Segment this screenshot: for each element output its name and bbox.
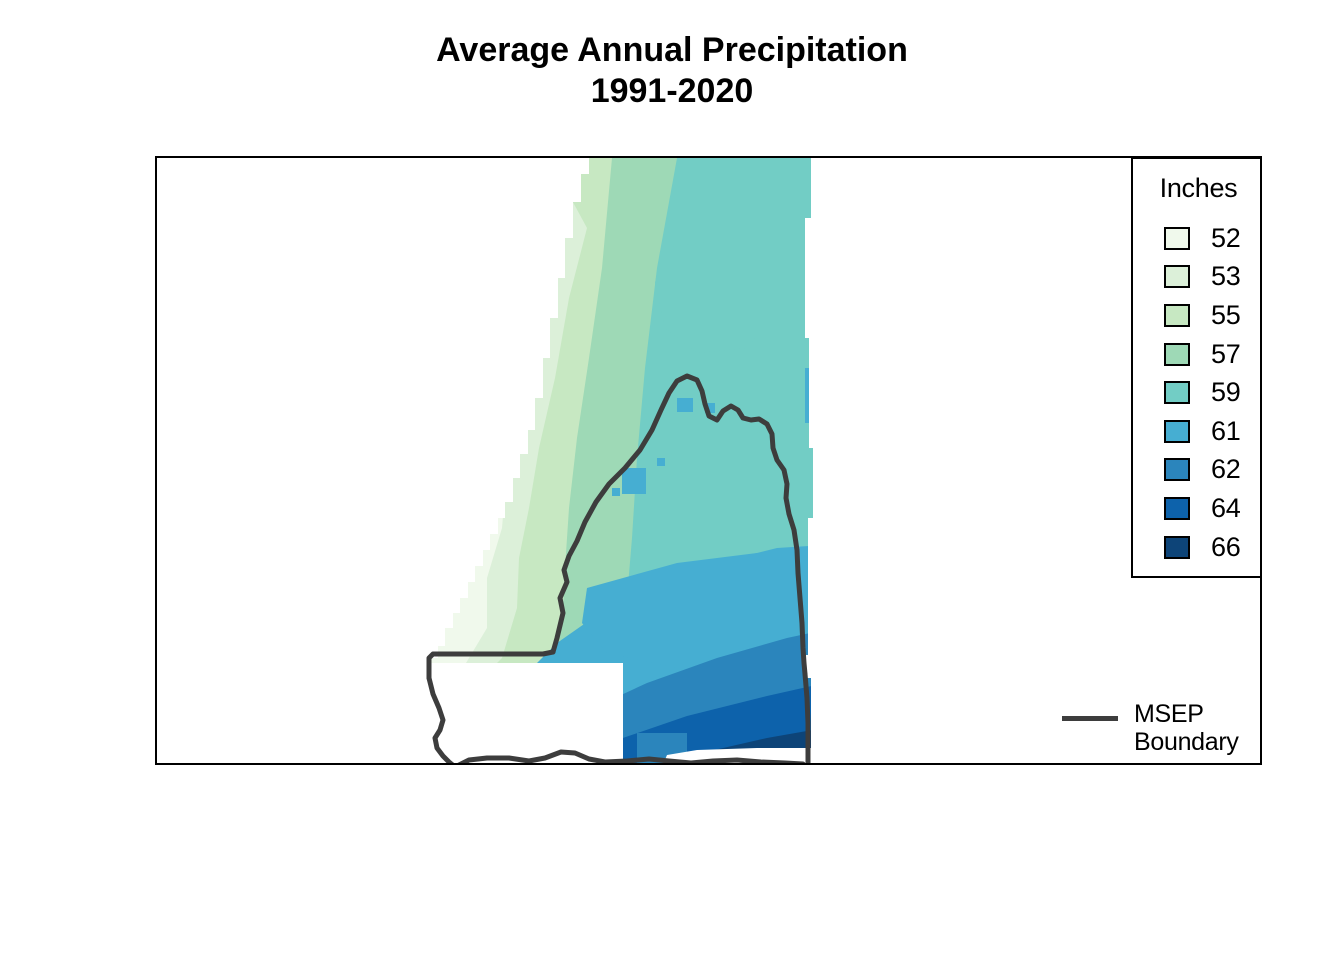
legend-item-64[interactable]: 64 xyxy=(1133,489,1264,528)
legend-label-61: 61 xyxy=(1211,418,1240,445)
chart-title-line-2: 1991-2020 xyxy=(0,71,1344,112)
blob-small-61-a xyxy=(677,398,693,412)
legend-label-55: 55 xyxy=(1211,302,1240,329)
legend-item-66[interactable]: 66 xyxy=(1133,528,1264,567)
blob-small-61-e xyxy=(622,468,646,494)
map-raster-canvas xyxy=(157,158,1260,763)
legend-title: Inches xyxy=(1133,173,1264,204)
msep-line-swatch-wrap xyxy=(1062,700,1124,721)
legend-swatch-62 xyxy=(1164,458,1190,481)
legend-swatch-55 xyxy=(1164,304,1190,327)
blob-sw-64 xyxy=(342,668,525,763)
legend-label-53: 53 xyxy=(1211,263,1240,290)
legend-label-59: 59 xyxy=(1211,379,1240,406)
legend-item-59[interactable]: 59 xyxy=(1133,373,1264,412)
blob-edge-61 xyxy=(805,368,815,423)
chart-title-block: Average Annual Precipitation 1991-2020 xyxy=(0,30,1344,113)
legend-label-64: 64 xyxy=(1211,495,1240,522)
legend-swatch-53 xyxy=(1164,265,1190,288)
legend-item-52[interactable]: 52 xyxy=(1133,219,1264,258)
legend-label-62: 62 xyxy=(1211,456,1240,483)
blob-small-61-d xyxy=(612,488,620,496)
legend-item-61[interactable]: 61 xyxy=(1133,412,1264,451)
chart-title-line-1: Average Annual Precipitation xyxy=(0,30,1344,71)
legend-item-55[interactable]: 55 xyxy=(1133,296,1264,335)
legend-swatch-66 xyxy=(1164,536,1190,559)
legend-item-53[interactable]: 53 xyxy=(1133,258,1264,297)
precipitation-map-page: Average Annual Precipitation 1991-2020 xyxy=(0,0,1344,960)
blob-light-57-a xyxy=(457,458,515,510)
legend-swatch-59 xyxy=(1164,381,1190,404)
msep-legend-line-1: MSEP xyxy=(1134,700,1239,728)
msep-boundary-legend: MSEP Boundary xyxy=(1062,700,1262,762)
msep-legend-line-2: Boundary xyxy=(1134,728,1239,756)
legend-swatch-64 xyxy=(1164,497,1190,520)
blob-small-61-c xyxy=(657,458,665,466)
precipitation-raster xyxy=(157,158,1260,763)
map-legend: Inches 52 53 55 57 59 xyxy=(1131,157,1262,578)
legend-swatch-52 xyxy=(1164,227,1190,250)
legend-item-62[interactable]: 62 xyxy=(1133,451,1264,490)
msep-legend-text: MSEP Boundary xyxy=(1134,700,1239,756)
legend-swatch-61 xyxy=(1164,420,1190,443)
legend-label-52: 52 xyxy=(1211,225,1240,252)
blob-light-55-a xyxy=(437,538,477,564)
legend-items: 52 53 55 57 59 61 xyxy=(1133,219,1264,566)
legend-swatch-57 xyxy=(1164,343,1190,366)
msep-line-swatch xyxy=(1062,716,1118,721)
legend-label-57: 57 xyxy=(1211,341,1240,368)
legend-item-57[interactable]: 57 xyxy=(1133,335,1264,374)
legend-label-66: 66 xyxy=(1211,534,1240,561)
map-plot-frame xyxy=(155,156,1262,765)
